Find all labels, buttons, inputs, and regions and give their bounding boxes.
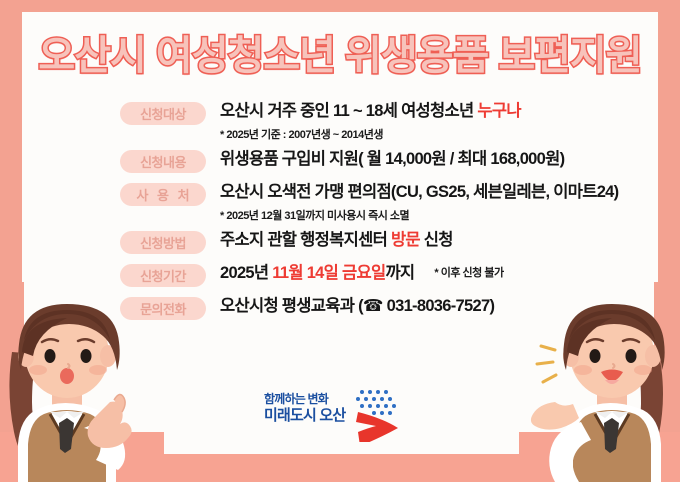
row-main-highlight: 방문 [391, 231, 420, 249]
row-main-method: 주소지 관할 행정복지센터 방문 신청 [220, 229, 453, 253]
info-row-applicant: 신청대상 오산시 거주 중인 11 ~ 18세 여성청소년 누구나 * 2025… [0, 100, 680, 142]
row-main-pre: 오산시 거주 중인 11 ~ 18세 여성청소년 [220, 102, 477, 120]
row-main-post: 신청 [420, 231, 453, 249]
osan-city-logo: 함께하는 변화 미래도시 오산 [258, 386, 423, 442]
info-row-period: 신청기간 2025년 11월 14일 금요일까지* 이후 신청 불가 [0, 262, 680, 287]
logo-slogan-line2: 미래도시 오산 [264, 407, 345, 426]
row-aside-period: * 이후 신청 불가 [434, 266, 503, 282]
logo-text: 함께하는 변화 미래도시 오산 [264, 392, 345, 426]
row-body-usage: 오산시 오색전 가맹 편의점(CU, GS25, 세븐일레븐, 이마트24) *… [220, 181, 618, 223]
row-body-content: 위생용품 구입비 지원( 월 14,000원 / 최대 168,000원) [220, 148, 564, 172]
row-label-usage: 사 용 처 [120, 183, 206, 206]
info-row-method: 신청방법 주소지 관할 행정복지센터 방문 신청 [0, 229, 680, 254]
row-main-content: 위생용품 구입비 지원( 월 14,000원 / 최대 168,000원) [220, 148, 564, 172]
row-label-contact: 문의전화 [120, 297, 206, 320]
info-row-content: 신청내용 위생용품 구입비 지원( 월 14,000원 / 최대 168,000… [0, 148, 680, 173]
logo-slogan-line1: 함께하는 변화 [264, 392, 345, 407]
row-main-pre: 위생용품 구입비 지원( 월 14,000원 / 최대 168,000원) [220, 150, 564, 168]
logo-arrow-icon [356, 412, 398, 442]
info-rows: 신청대상 오산시 거주 중인 11 ~ 18세 여성청소년 누구나 * 2025… [0, 100, 680, 322]
row-label-applicant: 신청대상 [120, 102, 206, 125]
row-main-period: 2025년 11월 14일 금요일까지* 이후 신청 불가 [220, 262, 504, 286]
row-body-contact: 오산시청 평생교육과 (☎ 031-8036-7527) [220, 295, 494, 319]
row-main-usage: 오산시 오색전 가맹 편의점(CU, GS25, 세븐일레븐, 이마트24) [220, 181, 618, 205]
row-main-highlight: 누구나 [477, 102, 520, 120]
logo-dot-pattern [356, 390, 396, 415]
row-label-period: 신청기간 [120, 264, 206, 287]
poster-title-wrap: 오산시 여성청소년 위생용품 보편지원 [0, 34, 680, 78]
row-main-highlight: 11월 14일 금요일 [272, 264, 385, 282]
row-main-post: 까지 [385, 264, 414, 282]
row-main-pre: 주소지 관할 행정복지센터 [220, 231, 391, 249]
row-body-period: 2025년 11월 14일 금요일까지* 이후 신청 불가 [220, 262, 504, 286]
row-main-applicant: 오산시 거주 중인 11 ~ 18세 여성청소년 누구나 [220, 100, 521, 124]
row-body-method: 주소지 관할 행정복지센터 방문 신청 [220, 229, 453, 253]
row-label-method: 신청방법 [120, 231, 206, 254]
row-label-content: 신청내용 [120, 150, 206, 173]
row-main-pre: 오산시 오색전 가맹 편의점(CU, GS25, 세븐일레븐, 이마트24) [220, 183, 618, 201]
row-main-contact: 오산시청 평생교육과 (☎ 031-8036-7527) [220, 295, 494, 319]
info-row-contact: 문의전화 오산시청 평생교육과 (☎ 031-8036-7527) [0, 295, 680, 320]
info-row-usage: 사 용 처 오산시 오색전 가맹 편의점(CU, GS25, 세븐일레븐, 이마… [0, 181, 680, 223]
row-body-applicant: 오산시 거주 중인 11 ~ 18세 여성청소년 누구나 * 2025년 기준 … [220, 100, 521, 142]
row-note-usage: * 2025년 12월 31일까지 미사용시 즉시 소멸 [220, 207, 618, 223]
row-main-pre: 2025년 [220, 264, 272, 282]
row-main-pre: 오산시청 평생교육과 (☎ 031-8036-7527) [220, 297, 494, 315]
poster-root: 오산시 여성청소년 위생용품 보편지원 신청대상 오산시 거주 중인 11 ~ … [0, 0, 680, 482]
row-note-applicant: * 2025년 기준 : 2007년생 ~ 2014년생 [220, 126, 521, 142]
page-title: 오산시 여성청소년 위생용품 보편지원 [38, 34, 641, 78]
